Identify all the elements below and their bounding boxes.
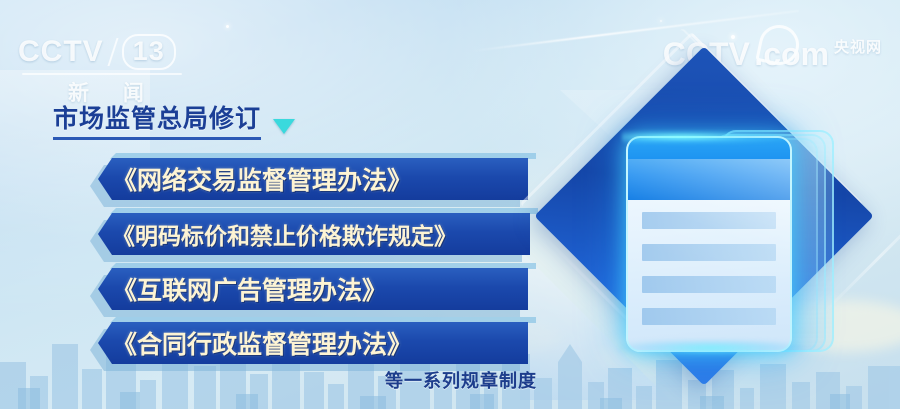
channel-number-badge: 13	[122, 34, 176, 70]
document-header-bar	[628, 138, 790, 200]
cctv-wordmark: CCTV	[18, 37, 104, 67]
page-title: 市场监管总局修订	[53, 106, 261, 140]
news-graphic-stage: CCTV 13 新 闻 CCTV .com 央视网 市场监管总局修订 《网络交易…	[0, 0, 900, 409]
regulation-banner-3[interactable]: 《互联网广告管理办法》	[98, 268, 528, 310]
channel-name-label: 新 闻	[68, 77, 203, 107]
cctvcom-chinese-label: 央视网	[834, 36, 882, 70]
document-top-glow	[622, 130, 792, 144]
regulation-banner-2[interactable]: 《明码标价和禁止价格欺诈规定》	[98, 213, 530, 255]
cctv13-channel-logo: CCTV 13 新 闻	[18, 34, 203, 96]
banner-body: 《明码标价和禁止价格欺诈规定》	[98, 213, 530, 255]
regulation-banner-1[interactable]: 《网络交易监督管理办法》	[98, 158, 528, 200]
document-text-line	[642, 244, 776, 261]
document-bottom-glow	[618, 340, 803, 356]
headline-block: 市场监管总局修订	[53, 106, 295, 140]
document-list-icon	[626, 136, 792, 352]
document-text-line	[642, 308, 776, 325]
regulation-label: 《明码标价和禁止价格欺诈规定》	[112, 217, 457, 251]
regulation-label: 《互联网广告管理办法》	[112, 271, 387, 307]
regulation-label: 《网络交易监督管理办法》	[112, 161, 412, 197]
footer-note: 等一系列规章制度	[385, 367, 537, 393]
banner-body: 《互联网广告管理办法》	[98, 268, 528, 310]
document-text-line	[642, 212, 776, 229]
regulation-banner-4[interactable]: 《合同行政监督管理办法》	[98, 322, 528, 364]
sparkle-dot	[660, 20, 662, 22]
banner-body: 《合同行政监督管理办法》	[98, 322, 528, 364]
cctv13-logo-row: CCTV 13	[18, 34, 203, 70]
logo-underline-rule	[22, 73, 182, 75]
sparkle-dot	[226, 25, 229, 28]
document-diamond-graphic	[548, 74, 900, 409]
slash-divider-icon	[107, 38, 118, 66]
document-text-line	[642, 276, 776, 293]
triangle-down-icon	[273, 119, 295, 134]
regulation-label: 《合同行政监督管理办法》	[112, 325, 412, 361]
document-lines	[628, 200, 790, 325]
banner-body: 《网络交易监督管理办法》	[98, 158, 528, 200]
